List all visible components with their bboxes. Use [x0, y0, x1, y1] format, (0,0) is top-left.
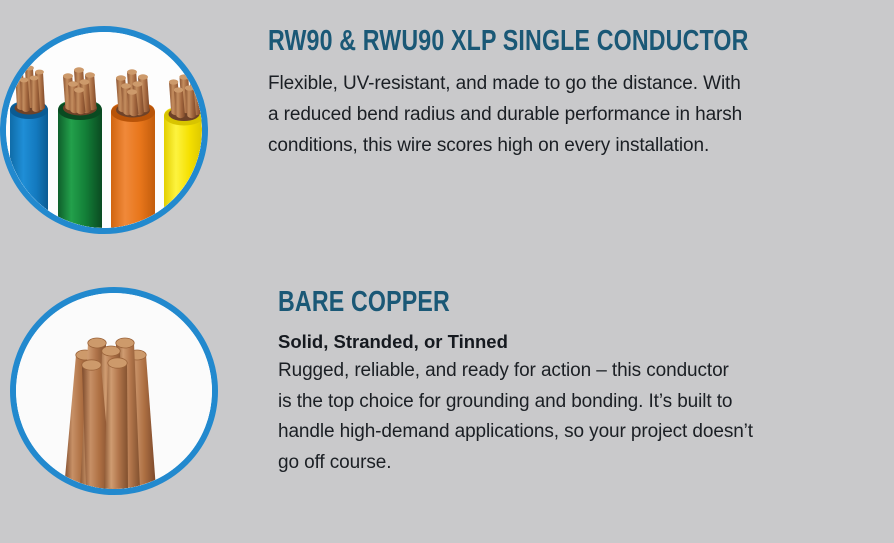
bare-copper-strands-icon [10, 287, 218, 495]
body-line: handle high-demand applications, so your… [278, 417, 798, 448]
feature-text-block: BARE COPPER Solid, Stranded, or Tinned R… [218, 287, 798, 479]
feature-body: Rugged, reliable, and ready for action –… [278, 356, 798, 479]
media-clip [6, 32, 202, 228]
feature-text-block: RW90 & RWU90 XLP SINGLE CONDUCTOR Flexib… [208, 26, 788, 162]
body-line: Rugged, reliable, and ready for action –… [278, 356, 798, 387]
feature-row: BARE COPPER Solid, Stranded, or Tinned R… [10, 287, 798, 495]
body-line: Flexible, UV-resistant, and made to go t… [268, 69, 788, 100]
feature-row: RW90 & RWU90 XLP SINGLE CONDUCTOR Flexib… [0, 26, 788, 234]
body-line: is the top choice for grounding and bond… [278, 387, 798, 418]
feature-title: RW90 & RWU90 XLP SINGLE CONDUCTOR [268, 26, 684, 56]
media-clip [16, 293, 212, 489]
feature-list-page: RW90 & RWU90 XLP SINGLE CONDUCTOR Flexib… [0, 0, 894, 543]
feature-title: BARE COPPER [278, 287, 694, 317]
colored-wires-illustration [6, 32, 202, 228]
copper-strand-bundle [64, 338, 156, 489]
body-line: go off course. [278, 448, 798, 479]
feature-body: Flexible, UV-resistant, and made to go t… [268, 69, 788, 161]
bare-copper-illustration [16, 293, 212, 489]
body-line: a reduced bend radius and durable perfor… [268, 100, 788, 131]
body-line: conditions, this wire scores high on eve… [268, 131, 788, 162]
colored-insulated-wires-icon [0, 26, 208, 234]
feature-subtitle: Solid, Stranded, or Tinned [278, 330, 798, 354]
